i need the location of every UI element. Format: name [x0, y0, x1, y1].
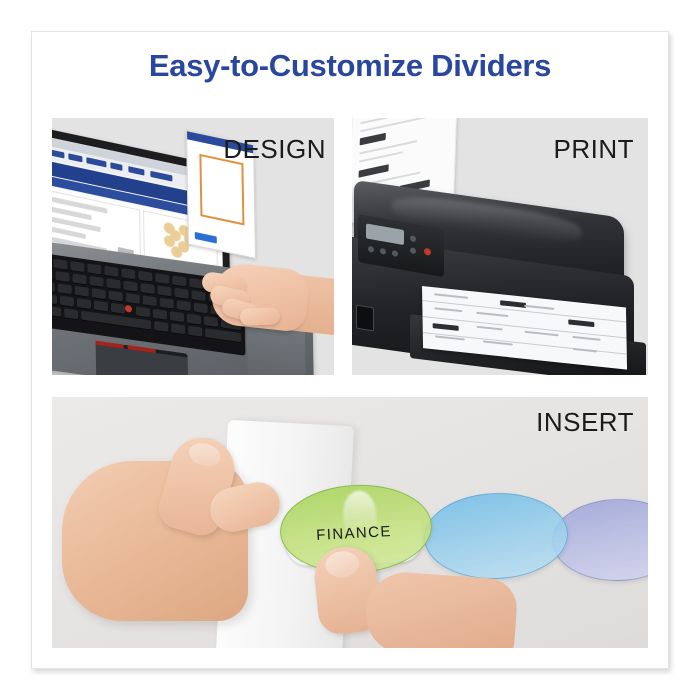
product-image-stage: Easy-to-Customize Dividers — [0, 0, 700, 700]
printer-power-button[interactable] — [424, 248, 431, 256]
panel-insert: FINANCE INSERT — [52, 397, 648, 648]
finger-thumb — [240, 307, 281, 325]
fingernail — [324, 550, 361, 579]
fingernail — [186, 440, 223, 470]
left-hand — [62, 419, 312, 648]
right-hand-knuckles — [363, 570, 518, 648]
panel-label-insert: INSERT — [536, 407, 634, 438]
hand-on-keyboard — [188, 248, 334, 368]
panel-label-print: PRINT — [554, 134, 635, 165]
panel-design: DESIGN — [52, 118, 334, 375]
panel-print: PRINT — [352, 118, 648, 375]
trackpoint-nub — [125, 305, 132, 313]
memory-card-slot — [356, 305, 374, 332]
printer-lcd-display — [366, 223, 404, 245]
page-title: Easy-to-Customize Dividers — [0, 48, 700, 84]
right-hand — [300, 547, 530, 648]
secondary-window-button — [195, 232, 217, 244]
panel-label-design: DESIGN — [223, 134, 326, 165]
